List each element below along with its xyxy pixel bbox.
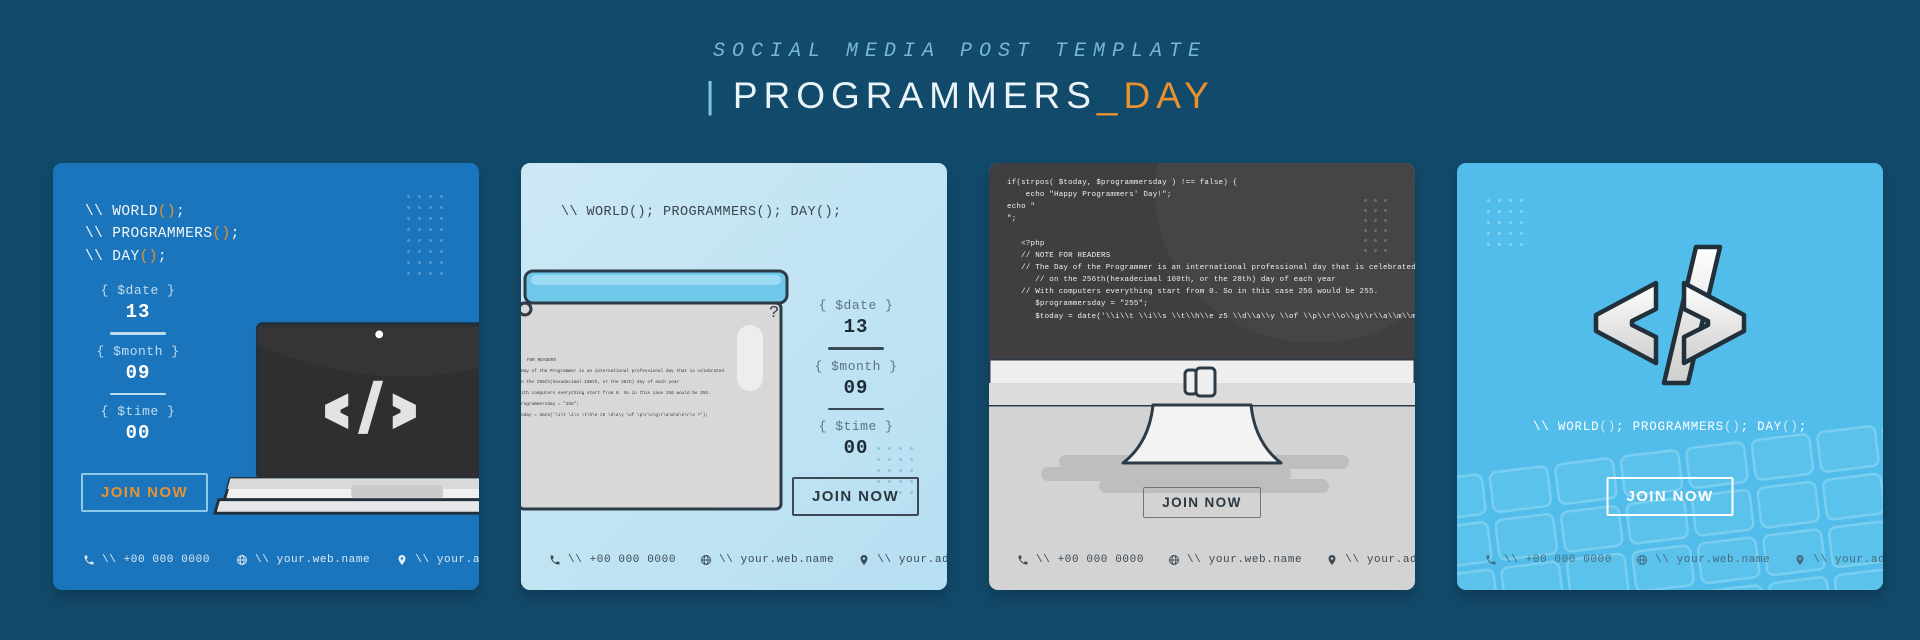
title-accent: DAY	[1123, 75, 1214, 117]
phone-icon	[83, 554, 95, 566]
time-value: 00	[791, 437, 921, 459]
paren-glyph: ()	[1724, 420, 1741, 434]
card1-line2-prefix: \\ PROGRAMMERS	[85, 226, 212, 242]
join-now-button[interactable]: JOIN NOW	[1607, 477, 1734, 516]
contact-phone-text: \\ +00 000 0000	[568, 554, 676, 566]
svg-text:rogrammersday = "255";: rogrammersday = "255";	[521, 402, 579, 407]
location-pin-icon	[858, 554, 870, 566]
globe-icon	[1636, 554, 1648, 566]
paren-glyph: ()	[1599, 420, 1616, 434]
contact-phone-text: \\ +00 000 0000	[1036, 554, 1144, 566]
card1-datetime-block: { $date } 13 { $month } 09 { $time } 00	[73, 283, 203, 444]
time-label: { $time }	[791, 419, 921, 434]
location-pin-icon	[1326, 554, 1338, 566]
globe-icon	[236, 554, 248, 566]
contact-phone[interactable]: \\ +00 000 0000	[549, 554, 676, 566]
code-brackets-icon	[1560, 235, 1780, 395]
divider	[828, 347, 884, 350]
card1-line3-suffix: ;	[158, 249, 167, 265]
date-label: { $date }	[73, 283, 203, 298]
contact-web-text: \\ your.web.name	[255, 554, 370, 566]
title-underscore: _	[1097, 75, 1124, 117]
monitor-code-text: if(strpos( $today, $programmersday ) !==…	[1007, 177, 1415, 323]
contact-address-text: \\ your.address.line	[415, 554, 479, 566]
laptop-with-code-icon	[211, 316, 479, 538]
svg-text:oday = date('\i\t \i\s \t\h\e: oday = date('\i\t \i\s \t\h\e z5 \d\a\y …	[521, 413, 708, 418]
contact-web-text: \\ your.web.name	[1655, 554, 1770, 566]
contact-address-text: \\ your.address.line	[1813, 554, 1883, 566]
contact-address-text: \\ your.address.line	[877, 554, 947, 566]
card3-footer: \\ +00 000 0000 \\ your.web.name \\ your…	[989, 554, 1415, 566]
date-label: { $date }	[791, 298, 921, 313]
card2-footer: \\ +00 000 0000 \\ your.web.name \\ your…	[521, 554, 947, 566]
card2-headline: \\ WORLD(); PROGRAMMERS(); DAY();	[561, 203, 842, 224]
month-value: 09	[73, 362, 203, 384]
card4-headline: \\ WORLD(); PROGRAMMERS(); DAY();	[1457, 418, 1883, 437]
card1-line2-paren: ()	[212, 226, 230, 242]
card4-footer: \\ +00 000 0000 \\ your.web.name \\ your…	[1457, 554, 1883, 566]
location-pin-icon	[1794, 554, 1806, 566]
date-value: 13	[791, 316, 921, 338]
card1-line2-suffix: ;	[231, 226, 240, 242]
title-main: PROGRAMMERS	[733, 75, 1097, 117]
globe-icon	[700, 554, 712, 566]
dot-decoration	[1364, 199, 1387, 252]
join-now-button[interactable]: JOIN NOW	[792, 477, 919, 516]
contact-web[interactable]: \\ your.web.name	[1636, 554, 1770, 566]
svg-text:ith computers everything start: ith computers everything start from 0. S…	[521, 391, 711, 396]
date-value: 13	[73, 301, 203, 323]
post-card-light-browser[interactable]: \\ WORLD(); PROGRAMMERS(); DAY(); ? FOR …	[521, 163, 947, 590]
card1-line1-prefix: \\ WORLD	[85, 204, 158, 220]
contact-phone[interactable]: \\ +00 000 0000	[1017, 554, 1144, 566]
card-grid: \\ WORLD(); \\ PROGRAMMERS(); \\ DAY(); …	[53, 163, 1883, 590]
phone-icon	[1017, 554, 1029, 566]
card1-footer: \\ +00 000 0000 \\ your.web.name \\ your…	[53, 554, 479, 566]
contact-address[interactable]: \\ your.address.line	[1794, 554, 1883, 566]
contact-web[interactable]: \\ your.web.name	[700, 554, 834, 566]
browser-window-with-code: ? FOR READERS Day of the Programmer is a…	[521, 269, 795, 519]
svg-text:n the 256th(hexadecimal 100th,: n the 256th(hexadecimal 100th, or the 28…	[521, 380, 679, 385]
month-label: { $month }	[791, 359, 921, 374]
time-value: 00	[73, 422, 203, 444]
globe-icon	[1168, 554, 1180, 566]
contact-web-text: \\ your.web.name	[1187, 554, 1302, 566]
divider	[828, 408, 884, 411]
header-subtitle: SOCIAL MEDIA POST TEMPLATE	[0, 40, 1920, 63]
card1-line1-suffix: ;	[176, 204, 185, 220]
contact-address[interactable]: \\ your.address.line	[1326, 554, 1415, 566]
post-card-dark-monitor[interactable]: if(strpos( $today, $programmersday ) !==…	[989, 163, 1415, 590]
contact-phone[interactable]: \\ +00 000 0000	[83, 554, 210, 566]
svg-text:Day of the Programmer is an in: Day of the Programmer is an internationa…	[521, 369, 724, 374]
divider	[110, 332, 166, 335]
card1-headline: \\ WORLD(); \\ PROGRAMMERS(); \\ DAY();	[85, 201, 240, 268]
contact-phone[interactable]: \\ +00 000 0000	[1485, 554, 1612, 566]
page-header: SOCIAL MEDIA POST TEMPLATE |PROGRAMMERS_…	[0, 0, 1920, 117]
contact-address[interactable]: \\ your.address.line	[396, 554, 479, 566]
contact-address-text: \\ your.address.line	[1345, 554, 1415, 566]
card1-line1-paren: ()	[158, 204, 176, 220]
month-value: 09	[791, 377, 921, 399]
post-card-blue-laptop[interactable]: \\ WORLD(); \\ PROGRAMMERS(); \\ DAY(); …	[53, 163, 479, 590]
svg-text:FOR READERS: FOR READERS	[527, 358, 556, 363]
contact-phone-text: \\ +00 000 0000	[1504, 554, 1612, 566]
phone-icon	[549, 554, 561, 566]
paren-glyph: ()	[1782, 420, 1799, 434]
card1-line3-paren: ()	[140, 249, 158, 265]
dot-decoration	[1487, 199, 1523, 246]
contact-phone-text: \\ +00 000 0000	[102, 554, 210, 566]
title-bar-glyph: |	[705, 75, 721, 117]
divider	[110, 393, 166, 396]
dot-decoration	[407, 195, 443, 275]
join-now-button[interactable]: JOIN NOW	[81, 473, 208, 512]
contact-address[interactable]: \\ your.address.line	[858, 554, 947, 566]
contact-web[interactable]: \\ your.web.name	[236, 554, 370, 566]
phone-icon	[1485, 554, 1497, 566]
time-label: { $time }	[73, 404, 203, 419]
post-card-keyboard-icon[interactable]: \\ WORLD(); PROGRAMMERS(); DAY(); JOIN N…	[1457, 163, 1883, 590]
contact-web[interactable]: \\ your.web.name	[1168, 554, 1302, 566]
card1-line3-prefix: \\ DAY	[85, 249, 140, 265]
card2-datetime-block: { $date } 13 { $month } 09 { $time } 00	[791, 298, 921, 459]
month-label: { $month }	[73, 344, 203, 359]
page-title: |PROGRAMMERS_DAY	[0, 75, 1920, 117]
location-pin-icon	[396, 554, 408, 566]
join-now-button[interactable]: JOIN NOW	[1143, 487, 1261, 518]
svg-text:?: ?	[769, 304, 779, 323]
contact-web-text: \\ your.web.name	[719, 554, 834, 566]
